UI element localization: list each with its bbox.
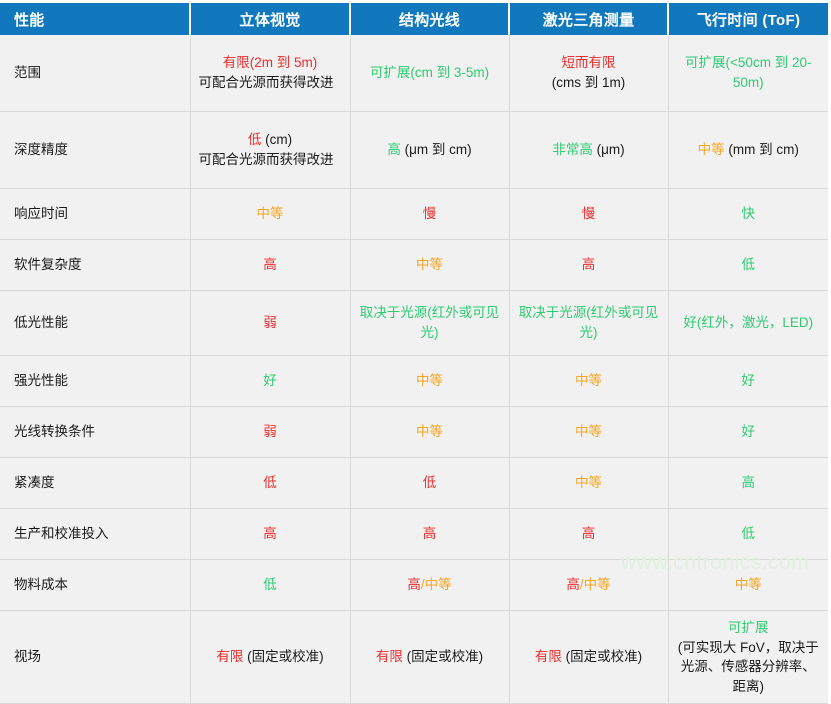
table-cell: 慢 (350, 189, 509, 240)
cell-line: 中等 (197, 204, 344, 224)
cell-text: 有限 (535, 649, 562, 664)
cell-text: 非常高 (552, 142, 593, 157)
table-cell: 低 (190, 458, 350, 509)
table-body: 范围有限(2m 到 5m)可配合光源而获得改进可扩展(cm 到 3-5m)短而有… (0, 35, 828, 704)
table-cell: 有限 (固定或校准) (509, 611, 668, 704)
cell-line: 高 (μm 到 cm) (357, 140, 503, 160)
cell-line: 有限(2m 到 5m) (197, 53, 344, 73)
cell-text: (cm) (261, 132, 292, 147)
cell-text: 高 (407, 577, 421, 592)
cell-line: 快 (675, 204, 823, 224)
table-cell: 高 (509, 509, 668, 560)
cell-line: 弱 (197, 313, 344, 333)
table-cell: 有限(2m 到 5m)可配合光源而获得改进 (190, 35, 350, 112)
table-cell: 低 (350, 458, 509, 509)
cell-line: (cms 到 1m) (516, 73, 662, 93)
column-header-structured-light: 结构光线 (350, 3, 509, 35)
row-label: 强光性能 (0, 356, 190, 407)
cell-text: 取决于光源(红外或可见光) (519, 305, 659, 340)
cell-line: 低 (cm) (197, 130, 344, 150)
cell-text: 慢 (423, 206, 437, 221)
cell-text: 中等 (575, 475, 602, 490)
cell-text: 低 (263, 577, 277, 592)
cell-line: 可配合光源而获得改进 (197, 150, 344, 170)
cell-text: 弱 (263, 315, 277, 330)
cell-text: 中等 (416, 257, 443, 272)
cell-text: /中等 (421, 577, 452, 592)
cell-text: (μm 到 cm) (401, 142, 472, 157)
table-cell: 弱 (190, 291, 350, 356)
cell-text: 低 (423, 475, 437, 490)
table-row: 强光性能好中等中等好 (0, 356, 828, 407)
cell-line: 有限 (固定或校准) (357, 647, 503, 667)
table-cell: 高 (190, 240, 350, 291)
cell-line: 高 (675, 473, 823, 493)
table-row: 范围有限(2m 到 5m)可配合光源而获得改进可扩展(cm 到 3-5m)短而有… (0, 35, 828, 112)
cell-line: 好(红外，激光，LED) (675, 313, 823, 333)
comparison-table-container: 性能 立体视觉 结构光线 激光三角测量 飞行时间 (ToF) 范围有限(2m 到… (0, 3, 828, 704)
table-cell: 取决于光源(红外或可见光) (509, 291, 668, 356)
cell-line: 取决于光源(红外或可见光) (357, 303, 503, 342)
cell-line: 中等 (516, 422, 662, 442)
table-cell: 中等 (668, 560, 828, 611)
cell-line: 弱 (197, 422, 344, 442)
row-label: 范围 (0, 35, 190, 112)
cell-line: 中等 (516, 473, 662, 493)
cell-text: 可扩展 (728, 620, 769, 635)
table-cell: 高/中等 (350, 560, 509, 611)
cell-text: 中等 (416, 424, 443, 439)
cell-line: 高 (197, 255, 344, 275)
cell-text: (mm 到 cm) (725, 142, 799, 157)
table-cell: 好 (668, 356, 828, 407)
table-cell: 中等 (350, 407, 509, 458)
cell-text: 取决于光源(红外或可见光) (360, 305, 500, 340)
cell-line: 好 (197, 371, 344, 391)
cell-text: 好 (742, 373, 756, 388)
row-label: 生产和校准投入 (0, 509, 190, 560)
table-cell: 快 (668, 189, 828, 240)
row-label: 深度精度 (0, 112, 190, 189)
cell-text: 可扩展(cm 到 3-5m) (370, 65, 489, 80)
cell-line: 有限 (固定或校准) (197, 647, 344, 667)
table-cell: 非常高 (μm) (509, 112, 668, 189)
cell-text: 慢 (582, 206, 596, 221)
cell-text: 可扩展(<50cm 到 20-50m) (685, 55, 811, 90)
table-cell: 慢 (509, 189, 668, 240)
table-row: 响应时间中等慢慢快 (0, 189, 828, 240)
cell-line: 有限 (固定或校准) (516, 647, 662, 667)
cell-line: 高/中等 (516, 575, 662, 595)
table-cell: 短而有限(cms 到 1m) (509, 35, 668, 112)
cell-text: 好 (742, 424, 756, 439)
cell-line: 低 (675, 524, 823, 544)
cell-text: 好(红外，激光，LED) (683, 315, 813, 330)
table-cell: 低 (668, 240, 828, 291)
cell-text: 弱 (263, 424, 277, 439)
cell-line: 中等 (357, 371, 503, 391)
table-row: 光线转换条件弱中等中等好 (0, 407, 828, 458)
row-label: 紧凑度 (0, 458, 190, 509)
cell-line: 低 (197, 575, 344, 595)
table-cell: 中等 (190, 189, 350, 240)
cell-text: (固定或校准) (403, 649, 483, 664)
cell-text: 高 (263, 526, 277, 541)
cell-line: 可扩展(cm 到 3-5m) (357, 63, 503, 83)
cell-text: 高 (387, 142, 401, 157)
cell-text: 中等 (575, 373, 602, 388)
cell-text: (可实现大 FoV，取决于光源、传感器分辨率、距离) (678, 640, 819, 694)
table-cell: 可扩展(可实现大 FoV，取决于光源、传感器分辨率、距离) (668, 611, 828, 704)
column-header-stereo-vision: 立体视觉 (190, 3, 350, 35)
row-label: 物料成本 (0, 560, 190, 611)
cell-text: 低 (742, 526, 756, 541)
cell-text: 中等 (575, 424, 602, 439)
cell-line: 可扩展 (675, 618, 823, 638)
row-label: 光线转换条件 (0, 407, 190, 458)
cell-line: 低 (357, 473, 503, 493)
row-label: 软件复杂度 (0, 240, 190, 291)
cell-text: 高 (742, 475, 756, 490)
row-label: 视场 (0, 611, 190, 704)
table-row: 低光性能弱取决于光源(红外或可见光)取决于光源(红外或可见光)好(红外，激光，L… (0, 291, 828, 356)
table-cell: 有限 (固定或校准) (190, 611, 350, 704)
cell-line: 高/中等 (357, 575, 503, 595)
cell-line: 可扩展(<50cm 到 20-50m) (675, 53, 823, 92)
table-cell: 中等 (509, 407, 668, 458)
table-header: 性能 立体视觉 结构光线 激光三角测量 飞行时间 (ToF) (0, 3, 828, 35)
table-cell: 高 (μm 到 cm) (350, 112, 509, 189)
cell-text: 高 (423, 526, 437, 541)
cell-text: 中等 (257, 206, 284, 221)
table-row: 生产和校准投入高高高低 (0, 509, 828, 560)
table-cell: 高 (668, 458, 828, 509)
cell-text: 有限 (376, 649, 403, 664)
cell-line: 高 (197, 524, 344, 544)
table-row: 物料成本低高/中等高/中等中等 (0, 560, 828, 611)
table-cell: 取决于光源(红外或可见光) (350, 291, 509, 356)
cell-line: 好 (675, 422, 823, 442)
table-row: 软件复杂度高中等高低 (0, 240, 828, 291)
cell-text: 可配合光源而获得改进 (199, 75, 334, 90)
row-label: 低光性能 (0, 291, 190, 356)
header-row: 性能 立体视觉 结构光线 激光三角测量 飞行时间 (ToF) (0, 3, 828, 35)
cell-text: 高 (566, 577, 580, 592)
table-cell: 好 (190, 356, 350, 407)
cell-line: 高 (516, 255, 662, 275)
cell-line: 取决于光源(红外或可见光) (516, 303, 662, 342)
table-row: 深度精度低 (cm)可配合光源而获得改进高 (μm 到 cm)非常高 (μm)中… (0, 112, 828, 189)
cell-text: 高 (582, 257, 596, 272)
cell-text: 快 (742, 206, 756, 221)
table-row: 视场有限 (固定或校准)有限 (固定或校准)有限 (固定或校准)可扩展(可实现大… (0, 611, 828, 704)
table-cell: 低 (190, 560, 350, 611)
cell-text: 可配合光源而获得改进 (199, 152, 334, 167)
row-label: 响应时间 (0, 189, 190, 240)
table-cell: 高 (350, 509, 509, 560)
table-cell: 中等 (mm 到 cm) (668, 112, 828, 189)
table-cell: 可扩展(cm 到 3-5m) (350, 35, 509, 112)
cell-text: 中等 (735, 577, 762, 592)
table-cell: 高/中等 (509, 560, 668, 611)
cell-line: 高 (357, 524, 503, 544)
cell-text: 有限 (216, 649, 243, 664)
cell-line: 好 (675, 371, 823, 391)
cell-line: 中等 (675, 575, 823, 595)
table-cell: 中等 (509, 458, 668, 509)
cell-line: 中等 (mm 到 cm) (675, 140, 823, 160)
column-header-laser-triangulation: 激光三角测量 (509, 3, 668, 35)
cell-line: 中等 (516, 371, 662, 391)
table-cell: 弱 (190, 407, 350, 458)
cell-text: 短而有限 (562, 55, 616, 70)
cell-line: 中等 (357, 422, 503, 442)
cell-line: 慢 (357, 204, 503, 224)
table-row: 紧凑度低低中等高 (0, 458, 828, 509)
cell-text: (cms 到 1m) (552, 75, 626, 90)
cell-text: 有限(2m 到 5m) (223, 55, 318, 70)
table-cell: 中等 (509, 356, 668, 407)
cell-text: (固定或校准) (562, 649, 642, 664)
table-cell: 高 (509, 240, 668, 291)
table-cell: 好(红外，激光，LED) (668, 291, 828, 356)
cell-text: 低 (742, 257, 756, 272)
table-cell: 中等 (350, 240, 509, 291)
cell-line: 慢 (516, 204, 662, 224)
table-cell: 低 (cm)可配合光源而获得改进 (190, 112, 350, 189)
cell-line: 中等 (357, 255, 503, 275)
cell-line: 非常高 (μm) (516, 140, 662, 160)
depth-sensing-comparison-table: 性能 立体视觉 结构光线 激光三角测量 飞行时间 (ToF) 范围有限(2m 到… (0, 3, 828, 704)
cell-text: (固定或校准) (243, 649, 323, 664)
table-cell: 可扩展(<50cm 到 20-50m) (668, 35, 828, 112)
cell-line: 短而有限 (516, 53, 662, 73)
cell-line: (可实现大 FoV，取决于光源、传感器分辨率、距离) (675, 638, 823, 697)
column-header-performance: 性能 (0, 3, 190, 35)
cell-text: (μm) (593, 142, 625, 157)
table-cell: 高 (190, 509, 350, 560)
cell-text: 中等 (698, 142, 725, 157)
table-cell: 好 (668, 407, 828, 458)
table-cell: 低 (668, 509, 828, 560)
cell-text: 高 (263, 257, 277, 272)
cell-line: 低 (675, 255, 823, 275)
cell-line: 低 (197, 473, 344, 493)
cell-text: 高 (582, 526, 596, 541)
cell-text: 低 (248, 132, 262, 147)
cell-text: 好 (263, 373, 277, 388)
table-cell: 有限 (固定或校准) (350, 611, 509, 704)
table-cell: 中等 (350, 356, 509, 407)
cell-text: 低 (263, 475, 277, 490)
cell-line: 可配合光源而获得改进 (197, 73, 344, 93)
cell-line: 高 (516, 524, 662, 544)
column-header-time-of-flight: 飞行时间 (ToF) (668, 3, 828, 35)
cell-text: 中等 (416, 373, 443, 388)
cell-text: /中等 (580, 577, 611, 592)
